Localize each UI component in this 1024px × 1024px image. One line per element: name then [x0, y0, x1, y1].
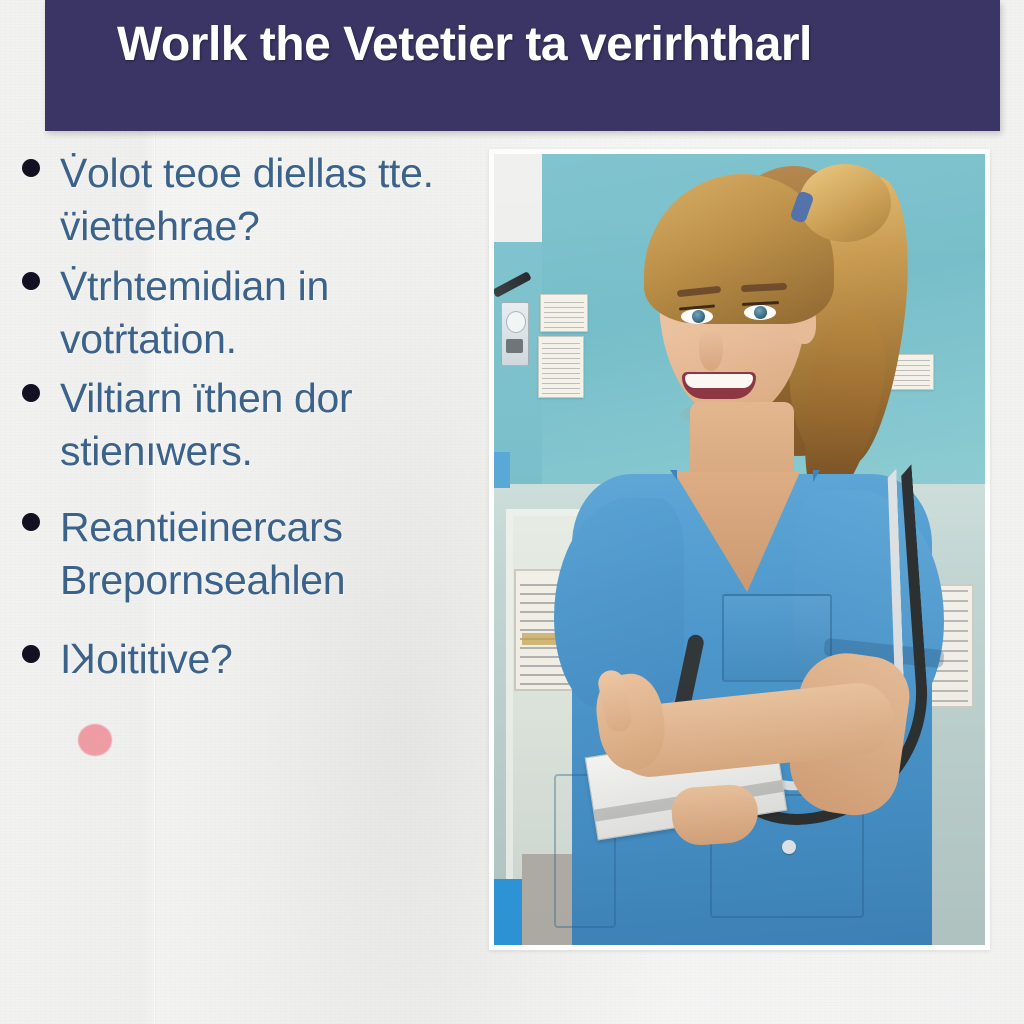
slide-title: Worlk the Vetetier ta verirhtharl	[117, 20, 997, 71]
bullet-line: IꞰoititive?	[60, 633, 508, 686]
list-item: IꞰoititive?	[8, 633, 508, 686]
bullet-text: Viltiarn ïthen dor stienıwers.	[60, 372, 508, 479]
bullet-dot-icon	[22, 384, 40, 402]
bullet-line: Brepornseahlen	[60, 554, 508, 607]
bullet-line: V̇olot teoe diellas tte.	[60, 147, 508, 200]
teeth	[685, 374, 753, 388]
iris-left	[692, 310, 705, 323]
bullet-line: V̇trhtemidian in	[60, 260, 508, 313]
list-item: Reantieinercars Brepornseahlen	[8, 501, 508, 608]
list-item: Viltiarn ïthen dor stienıwers.	[8, 372, 508, 479]
pink-dot-marker	[78, 724, 112, 756]
nose	[699, 329, 723, 371]
bullet-line: Reantieinercars	[60, 501, 508, 554]
bullet-dot-icon	[22, 159, 40, 177]
bullet-text: V̇olot teoe diellas tte. v̈iettehrae?	[60, 147, 508, 254]
nurse-photo	[494, 154, 985, 945]
snap-button	[782, 840, 796, 854]
title-band: Worlk the Vetetier ta verirhtharl	[45, 0, 1000, 131]
photo-frame	[489, 149, 990, 950]
bullet-dot-icon	[22, 272, 40, 290]
mouth	[682, 372, 756, 399]
bullet-text: IꞰoititive?	[60, 633, 508, 686]
slide-canvas: Worlk the Vetetier ta verirhtharl V̇olot…	[0, 0, 1024, 1024]
list-item: V̇olot teoe diellas tte. v̈iettehrae?	[8, 147, 508, 254]
bullet-text: Reantieinercars Brepornseahlen	[60, 501, 508, 608]
eye-left	[681, 309, 713, 324]
eye-right	[744, 305, 776, 320]
bullet-dot-icon	[22, 513, 40, 531]
iris-right	[754, 306, 767, 319]
bullet-text: V̇trhtemidian in votṙtation.	[60, 260, 508, 367]
bullet-list: V̇olot teoe diellas tte. v̈iettehrae? V̇…	[8, 147, 508, 693]
hair-bun	[799, 164, 891, 242]
bullet-line: stienıwers.	[60, 425, 508, 478]
bullet-line: votṙtation.	[60, 313, 508, 366]
list-item: V̇trhtemidian in votṙtation.	[8, 260, 508, 367]
nurse-figure	[494, 154, 985, 945]
bullet-dot-icon	[22, 645, 40, 663]
bullet-line: Viltiarn ïthen dor	[60, 372, 508, 425]
bullet-line: v̈iettehrae?	[60, 200, 508, 253]
